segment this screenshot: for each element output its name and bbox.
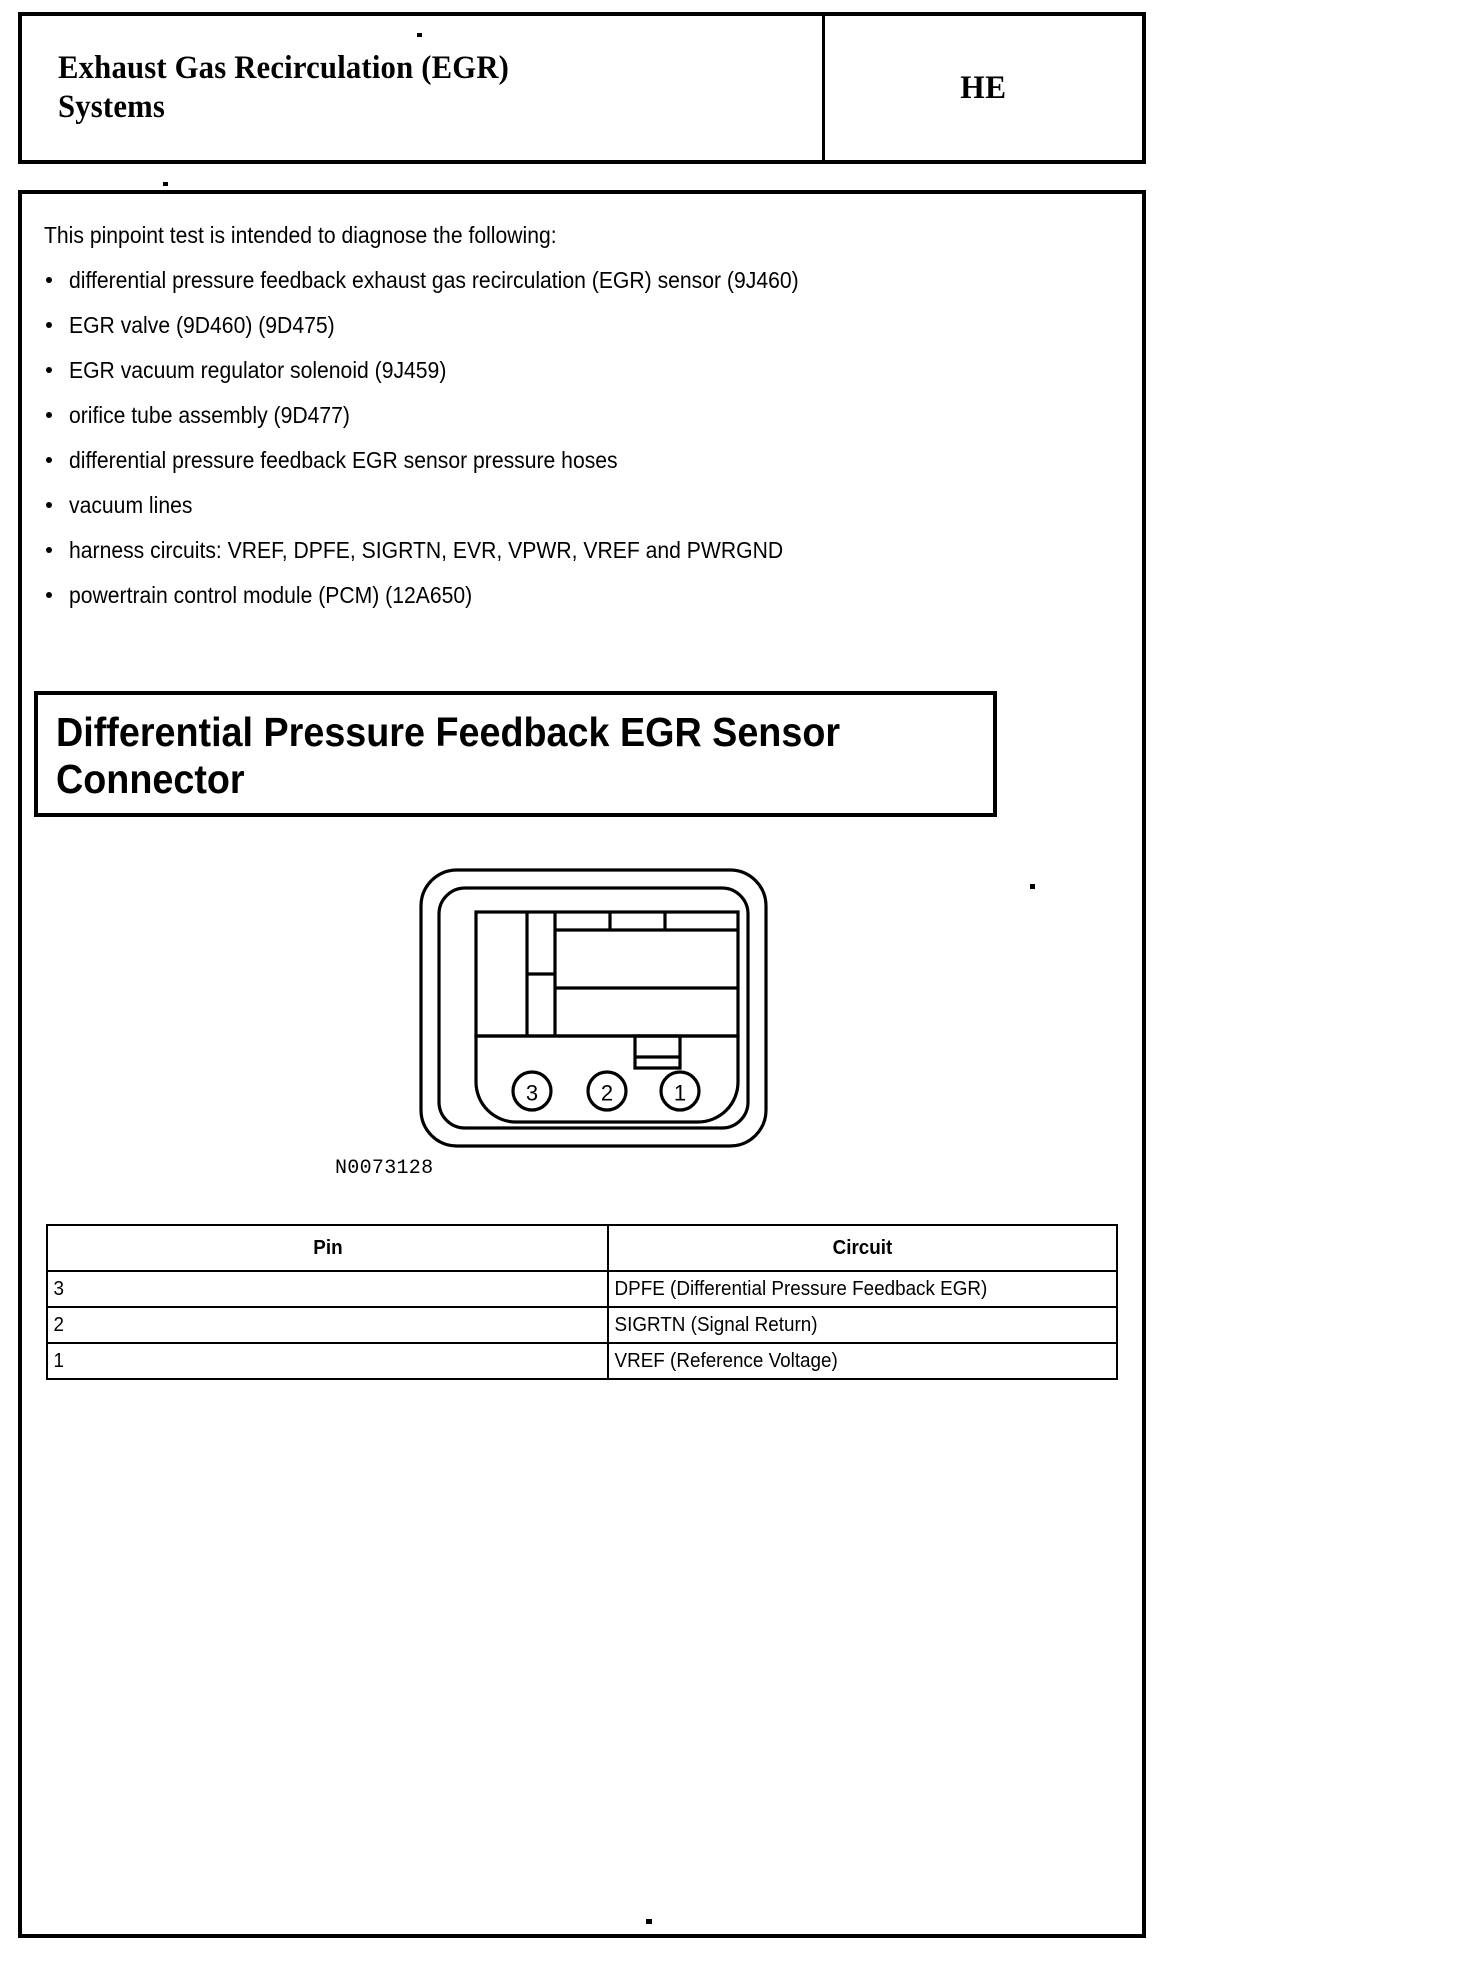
list-item-label: orifice tube assembly (9D477) bbox=[69, 404, 350, 428]
pin-label-1: 1 bbox=[674, 1081, 686, 1106]
connector-inner-shell bbox=[439, 888, 748, 1128]
figure-id-label: N0073128 bbox=[335, 1157, 433, 1180]
page-title: Exhaust Gas Recirculation (EGR) Systems bbox=[58, 49, 509, 126]
table-row: 1 VREF (Reference Voltage) bbox=[47, 1343, 1117, 1379]
bullet-icon bbox=[46, 412, 52, 418]
bullet-icon bbox=[46, 547, 52, 553]
connector-latch-tab bbox=[635, 1036, 680, 1068]
list-item: harness circuits: VREF, DPFE, SIGRTN, EV… bbox=[44, 539, 1124, 563]
intro-text: This pinpoint test is intended to diagno… bbox=[44, 222, 557, 249]
bullet-icon bbox=[46, 592, 52, 598]
section-heading: Differential Pressure Feedback EGR Senso… bbox=[56, 709, 921, 802]
bullet-icon bbox=[46, 277, 52, 283]
list-item-label: EGR valve (9D460) (9D475) bbox=[69, 314, 335, 338]
table-row: 3 DPFE (Differential Pressure Feedback E… bbox=[47, 1271, 1117, 1307]
column-header-circuit: Circuit bbox=[608, 1225, 1117, 1271]
list-item: differential pressure feedback exhaust g… bbox=[44, 269, 1124, 293]
list-item-label: EGR vacuum regulator solenoid (9J459) bbox=[69, 359, 446, 383]
content-frame: This pinpoint test is intended to diagno… bbox=[18, 190, 1146, 1938]
list-item: orifice tube assembly (9D477) bbox=[44, 404, 1124, 428]
section-heading-line-1: Differential Pressure Feedback EGR Senso… bbox=[56, 709, 840, 755]
list-item: EGR valve (9D460) (9D475) bbox=[44, 314, 1124, 338]
table-header-row: Pin Circuit bbox=[47, 1225, 1117, 1271]
bullet-icon bbox=[46, 457, 52, 463]
pin-circuit-table: Pin Circuit 3 DPFE (Differential Pressur… bbox=[46, 1224, 1118, 1380]
connector-diagram-svg: 3 2 1 bbox=[22, 854, 1142, 1154]
bullet-icon bbox=[46, 322, 52, 328]
scan-speck bbox=[417, 33, 422, 37]
section-code: HE bbox=[960, 70, 1006, 107]
header-title-cell: Exhaust Gas Recirculation (EGR) Systems bbox=[22, 16, 822, 160]
connector-figure: 3 2 1 N0073128 bbox=[22, 854, 1142, 1214]
diagnose-list: differential pressure feedback exhaust g… bbox=[44, 269, 1124, 629]
section-heading-box: Differential Pressure Feedback EGR Senso… bbox=[34, 691, 997, 817]
bullet-icon bbox=[46, 502, 52, 508]
list-item: EGR vacuum regulator solenoid (9J459) bbox=[44, 359, 1124, 383]
list-item-label: harness circuits: VREF, DPFE, SIGRTN, EV… bbox=[69, 539, 783, 563]
page-title-line-1: Exhaust Gas Recirculation (EGR) bbox=[58, 50, 509, 86]
page-header: Exhaust Gas Recirculation (EGR) Systems … bbox=[18, 12, 1146, 164]
cell-circuit: SIGRTN (Signal Return) bbox=[608, 1307, 1117, 1343]
table-row: 2 SIGRTN (Signal Return) bbox=[47, 1307, 1117, 1343]
bullet-icon bbox=[46, 367, 52, 373]
header-code-cell: HE bbox=[825, 16, 1142, 160]
cell-circuit: DPFE (Differential Pressure Feedback EGR… bbox=[608, 1271, 1117, 1307]
cell-pin: 1 bbox=[47, 1343, 608, 1379]
list-item-label: differential pressure feedback EGR senso… bbox=[69, 449, 618, 473]
pin-label-2: 2 bbox=[601, 1081, 613, 1106]
document-page: Exhaust Gas Recirculation (EGR) Systems … bbox=[0, 0, 1472, 1964]
list-item-label: powertrain control module (PCM) (12A650) bbox=[69, 584, 472, 608]
list-item-label: vacuum lines bbox=[69, 494, 192, 518]
section-heading-line-2: Connector bbox=[56, 756, 245, 802]
cell-pin: 2 bbox=[47, 1307, 608, 1343]
column-header-pin: Pin bbox=[47, 1225, 608, 1271]
cell-circuit: VREF (Reference Voltage) bbox=[608, 1343, 1117, 1379]
list-item: powertrain control module (PCM) (12A650) bbox=[44, 584, 1124, 608]
page-title-line-2: Systems bbox=[58, 89, 165, 125]
pin-label-3: 3 bbox=[526, 1081, 538, 1106]
scan-speck bbox=[163, 182, 168, 186]
cell-pin: 3 bbox=[47, 1271, 608, 1307]
list-item-label: differential pressure feedback exhaust g… bbox=[69, 269, 799, 293]
list-item: differential pressure feedback EGR senso… bbox=[44, 449, 1124, 473]
list-item: vacuum lines bbox=[44, 494, 1124, 518]
